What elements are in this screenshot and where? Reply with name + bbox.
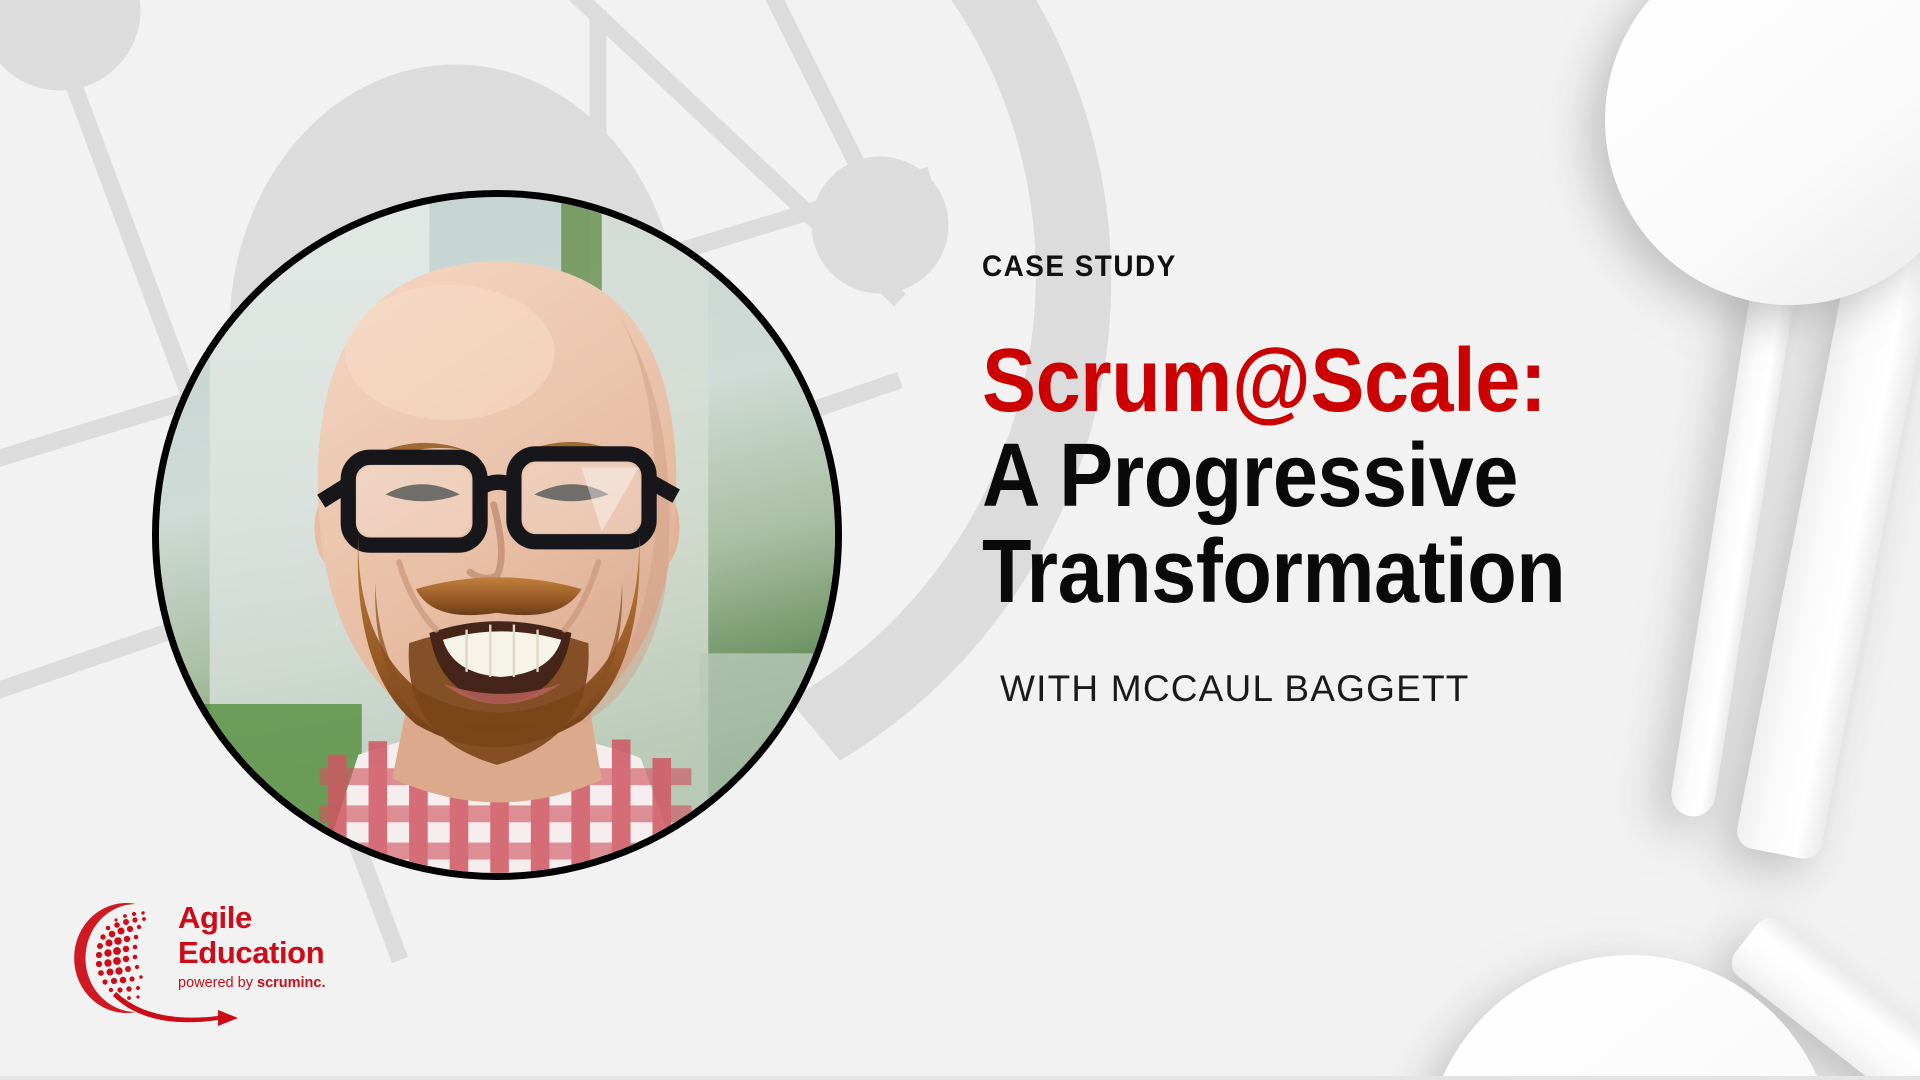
eyebrow-label: CASE STUDY (982, 252, 1800, 282)
title-line-2: A Progressive (982, 429, 1774, 524)
title-line-1: Scrum@Scale: (982, 334, 1774, 429)
speaker-portrait (152, 190, 842, 880)
headline-block: CASE STUDY Scrum@Scale: A Progressive Tr… (982, 252, 1862, 710)
bottom-divider (0, 1076, 1920, 1080)
logo-tagline-brand: scruminc. (257, 975, 326, 991)
logo-tagline: powered by scruminc. (178, 976, 326, 991)
logo-wordmark: Agile Education powered by scruminc. (178, 902, 326, 991)
speaker-byline: WITH MCCAUL BAGGETT (1000, 668, 1862, 710)
agile-education-logo: Agile Education powered by scruminc. (70, 888, 320, 1028)
page-title: Scrum@Scale: A Progressive Transformatio… (982, 334, 1774, 620)
logo-tagline-prefix: powered by (178, 975, 257, 991)
title-line-3: Transformation (982, 525, 1774, 620)
logo-word-education: Education (178, 937, 326, 968)
logo-word-agile: Agile (178, 902, 326, 933)
case-study-slide: CASE STUDY Scrum@Scale: A Progressive Tr… (0, 0, 1920, 1080)
